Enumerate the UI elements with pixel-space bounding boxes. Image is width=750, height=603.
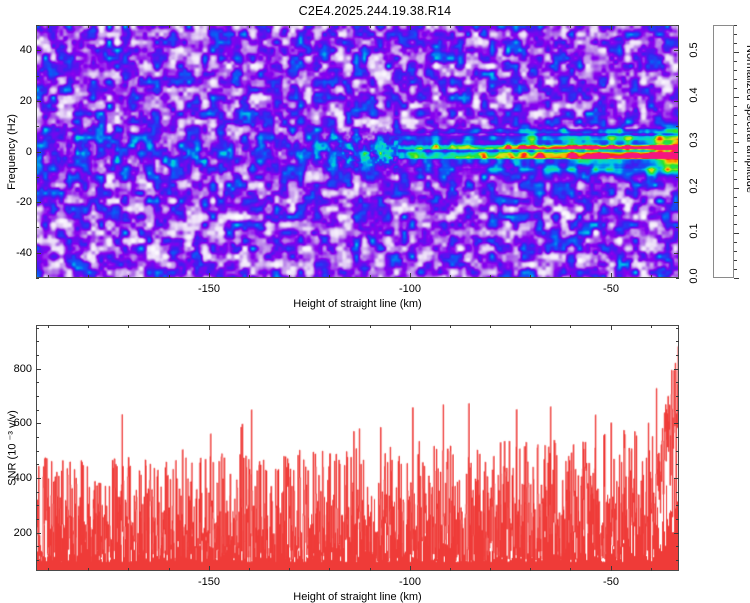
y-axis-tick bbox=[36, 451, 39, 452]
y-axis-tick bbox=[36, 437, 39, 438]
y-axis-tick bbox=[674, 478, 679, 479]
colorbar-tick bbox=[734, 170, 737, 171]
x-axis-tick bbox=[611, 566, 612, 571]
colorbar-tick bbox=[734, 43, 737, 44]
x-tick-label: -150 bbox=[198, 576, 220, 588]
x-axis-tick bbox=[249, 275, 250, 278]
y-axis-tick bbox=[36, 560, 39, 561]
x-axis-tick bbox=[410, 273, 411, 278]
y-axis-tick bbox=[676, 278, 679, 279]
colorbar-tick bbox=[734, 70, 737, 71]
y-axis-tick bbox=[36, 464, 39, 465]
colorbar-tick-label: 0.2 bbox=[688, 173, 700, 199]
x-axis-tick bbox=[450, 568, 451, 571]
y-axis-tick bbox=[676, 451, 679, 452]
x-axis-tick bbox=[490, 275, 491, 278]
y-axis-tick bbox=[674, 50, 679, 51]
colorbar-tick bbox=[734, 97, 739, 98]
x-axis-tick bbox=[450, 275, 451, 278]
y-axis-tick bbox=[676, 560, 679, 561]
x-axis-tick bbox=[88, 568, 89, 571]
colorbar-tick bbox=[734, 260, 737, 261]
y-axis-tick bbox=[36, 253, 41, 254]
colorbar-tick-label: 0.3 bbox=[688, 127, 700, 153]
x-axis-tick bbox=[249, 568, 250, 571]
x-axis-tick bbox=[530, 568, 531, 571]
y-axis-tick bbox=[674, 152, 679, 153]
y-tick-label: 20 bbox=[20, 95, 32, 107]
y-axis-tick bbox=[36, 278, 39, 279]
y-axis-tick bbox=[36, 355, 39, 356]
x-axis-tick bbox=[128, 568, 129, 571]
x-axis-tick bbox=[209, 273, 210, 278]
colorbar-tick bbox=[734, 251, 737, 252]
x-axis-tick bbox=[570, 568, 571, 571]
y-axis-tick bbox=[676, 505, 679, 506]
x-axis-tick bbox=[209, 566, 210, 571]
y-axis-tick bbox=[36, 341, 39, 342]
y-axis-tick bbox=[676, 227, 679, 228]
x-axis-tick bbox=[289, 25, 290, 28]
colorbar bbox=[713, 25, 734, 278]
y-axis-tick bbox=[36, 202, 41, 203]
colorbar-tick bbox=[734, 106, 737, 107]
colorbar-tick bbox=[734, 161, 737, 162]
y-axis-tick bbox=[36, 492, 39, 493]
y-axis-tick bbox=[676, 519, 679, 520]
x-axis-tick bbox=[249, 25, 250, 28]
x-axis-tick bbox=[249, 325, 250, 328]
y-axis-tick bbox=[676, 492, 679, 493]
x-axis-tick bbox=[169, 568, 170, 571]
y-axis-tick bbox=[674, 101, 679, 102]
x-axis-tick bbox=[530, 325, 531, 328]
x-tick-label: -100 bbox=[399, 576, 421, 588]
y-axis-tick bbox=[36, 382, 39, 383]
x-axis-tick bbox=[209, 25, 210, 30]
snr-x-axis-title: Height of straight line (km) bbox=[293, 591, 421, 603]
x-axis-tick bbox=[530, 275, 531, 278]
x-axis-tick bbox=[410, 25, 411, 30]
colorbar-gradient bbox=[714, 26, 733, 277]
x-axis-tick bbox=[48, 275, 49, 278]
x-axis-tick bbox=[209, 325, 210, 330]
colorbar-tick-label: 0.4 bbox=[688, 82, 700, 108]
colorbar-tick bbox=[734, 133, 737, 134]
y-axis-tick bbox=[674, 533, 679, 534]
y-axis-tick bbox=[36, 177, 39, 178]
x-axis-tick bbox=[169, 325, 170, 328]
x-axis-tick bbox=[48, 325, 49, 328]
colorbar-tick bbox=[734, 197, 737, 198]
y-axis-tick bbox=[36, 423, 41, 424]
x-axis-tick bbox=[651, 568, 652, 571]
x-axis-tick bbox=[450, 25, 451, 28]
y-axis-tick bbox=[36, 369, 41, 370]
y-tick-label: 0 bbox=[26, 146, 32, 158]
y-tick-label: 200 bbox=[14, 527, 32, 539]
x-axis-tick bbox=[329, 275, 330, 278]
colorbar-axis-title: Normalized spectral amplitude bbox=[744, 45, 750, 193]
spectrogram-y-axis-title: Frequency (Hz) bbox=[6, 114, 18, 190]
x-axis-tick bbox=[128, 325, 129, 328]
y-axis-tick bbox=[36, 152, 41, 153]
x-axis-tick bbox=[570, 325, 571, 328]
x-tick-label: -150 bbox=[198, 283, 220, 295]
x-axis-tick bbox=[88, 275, 89, 278]
y-tick-label: -20 bbox=[16, 196, 32, 208]
x-axis-tick bbox=[651, 25, 652, 28]
colorbar-tick bbox=[734, 242, 737, 243]
x-axis-tick bbox=[530, 25, 531, 28]
colorbar-tick bbox=[734, 269, 737, 270]
x-axis-tick bbox=[370, 325, 371, 328]
x-axis-tick bbox=[329, 568, 330, 571]
x-axis-tick bbox=[289, 325, 290, 328]
colorbar-tick bbox=[734, 233, 739, 234]
y-axis-tick bbox=[36, 519, 39, 520]
y-axis-tick bbox=[676, 546, 679, 547]
colorbar-tick bbox=[734, 278, 739, 279]
x-axis-tick bbox=[450, 325, 451, 328]
colorbar-tick bbox=[734, 52, 739, 53]
y-axis-tick bbox=[36, 546, 39, 547]
x-axis-tick bbox=[611, 325, 612, 330]
y-axis-tick bbox=[674, 423, 679, 424]
x-axis-tick bbox=[48, 25, 49, 28]
y-axis-tick bbox=[676, 126, 679, 127]
colorbar-tick bbox=[734, 88, 737, 89]
x-axis-tick bbox=[128, 25, 129, 28]
y-axis-tick bbox=[36, 76, 39, 77]
y-axis-tick bbox=[676, 25, 679, 26]
x-axis-tick bbox=[611, 25, 612, 30]
colorbar-tick-label: 0.5 bbox=[688, 37, 700, 63]
x-axis-tick bbox=[490, 325, 491, 328]
y-axis-tick bbox=[36, 396, 39, 397]
x-tick-label: -100 bbox=[399, 283, 421, 295]
figure-root: C2E4.2025.244.19.38.R14 -150-100-50 -40-… bbox=[0, 0, 750, 600]
y-axis-tick bbox=[676, 177, 679, 178]
x-axis-tick bbox=[289, 275, 290, 278]
x-axis-tick bbox=[490, 25, 491, 28]
x-axis-tick bbox=[570, 275, 571, 278]
x-axis-tick bbox=[370, 275, 371, 278]
y-axis-tick bbox=[36, 126, 39, 127]
x-axis-tick bbox=[329, 25, 330, 28]
y-tick-label: 800 bbox=[14, 363, 32, 375]
x-axis-tick bbox=[128, 275, 129, 278]
x-axis-tick bbox=[370, 568, 371, 571]
y-axis-tick bbox=[676, 437, 679, 438]
colorbar-tick bbox=[734, 188, 739, 189]
colorbar-tick bbox=[734, 206, 737, 207]
x-axis-tick bbox=[611, 273, 612, 278]
colorbar-tick bbox=[734, 34, 737, 35]
x-axis-tick bbox=[169, 25, 170, 28]
colorbar-tick bbox=[734, 124, 737, 125]
y-axis-tick bbox=[674, 369, 679, 370]
x-axis-tick bbox=[289, 568, 290, 571]
x-tick-label: -50 bbox=[603, 576, 619, 588]
colorbar-tick bbox=[734, 142, 739, 143]
colorbar-tick bbox=[734, 215, 737, 216]
y-axis-tick bbox=[676, 382, 679, 383]
y-axis-tick bbox=[676, 76, 679, 77]
x-axis-tick bbox=[88, 325, 89, 328]
y-axis-tick bbox=[36, 410, 39, 411]
colorbar-tick bbox=[734, 79, 737, 80]
colorbar-tick bbox=[734, 152, 737, 153]
colorbar-tick bbox=[734, 61, 737, 62]
y-axis-tick bbox=[36, 505, 39, 506]
x-axis-tick bbox=[88, 25, 89, 28]
x-axis-tick bbox=[410, 566, 411, 571]
spectrogram-x-axis-title: Height of straight line (km) bbox=[293, 298, 421, 310]
y-axis-tick bbox=[674, 202, 679, 203]
y-axis-tick bbox=[676, 464, 679, 465]
colorbar-tick bbox=[734, 25, 737, 26]
x-axis-tick bbox=[329, 325, 330, 328]
y-tick-label: -40 bbox=[16, 247, 32, 259]
x-axis-tick bbox=[490, 568, 491, 571]
y-axis-tick bbox=[36, 25, 39, 26]
x-axis-tick bbox=[370, 25, 371, 28]
snr-panel bbox=[36, 325, 679, 571]
snr-y-axis-title: SNR (10 ⁻³ v/v) bbox=[6, 410, 19, 485]
spectrogram-image bbox=[37, 26, 678, 277]
x-axis-tick bbox=[651, 325, 652, 328]
colorbar-tick bbox=[734, 224, 737, 225]
y-axis-tick bbox=[36, 533, 41, 534]
colorbar-tick bbox=[734, 115, 737, 116]
x-axis-tick bbox=[570, 25, 571, 28]
colorbar-tick-label: 0.1 bbox=[688, 218, 700, 244]
x-axis-tick bbox=[651, 275, 652, 278]
y-axis-tick bbox=[676, 410, 679, 411]
y-axis-tick bbox=[36, 227, 39, 228]
y-axis-tick bbox=[676, 328, 679, 329]
y-axis-tick bbox=[674, 253, 679, 254]
colorbar-tick-label: 0.0 bbox=[688, 263, 700, 289]
snr-trace-plot bbox=[37, 326, 678, 570]
x-axis-tick bbox=[410, 325, 411, 330]
y-axis-tick bbox=[36, 50, 41, 51]
y-axis-tick bbox=[676, 355, 679, 356]
x-axis-tick bbox=[48, 568, 49, 571]
y-axis-tick bbox=[676, 396, 679, 397]
y-axis-tick bbox=[36, 328, 39, 329]
y-tick-label: 40 bbox=[20, 44, 32, 56]
y-axis-tick bbox=[36, 478, 41, 479]
y-axis-tick bbox=[36, 101, 41, 102]
y-axis-tick bbox=[676, 341, 679, 342]
spectrogram-panel bbox=[36, 25, 679, 278]
x-tick-label: -50 bbox=[603, 283, 619, 295]
x-axis-tick bbox=[169, 275, 170, 278]
colorbar-tick bbox=[734, 179, 737, 180]
page-title: C2E4.2025.244.19.38.R14 bbox=[0, 4, 750, 18]
